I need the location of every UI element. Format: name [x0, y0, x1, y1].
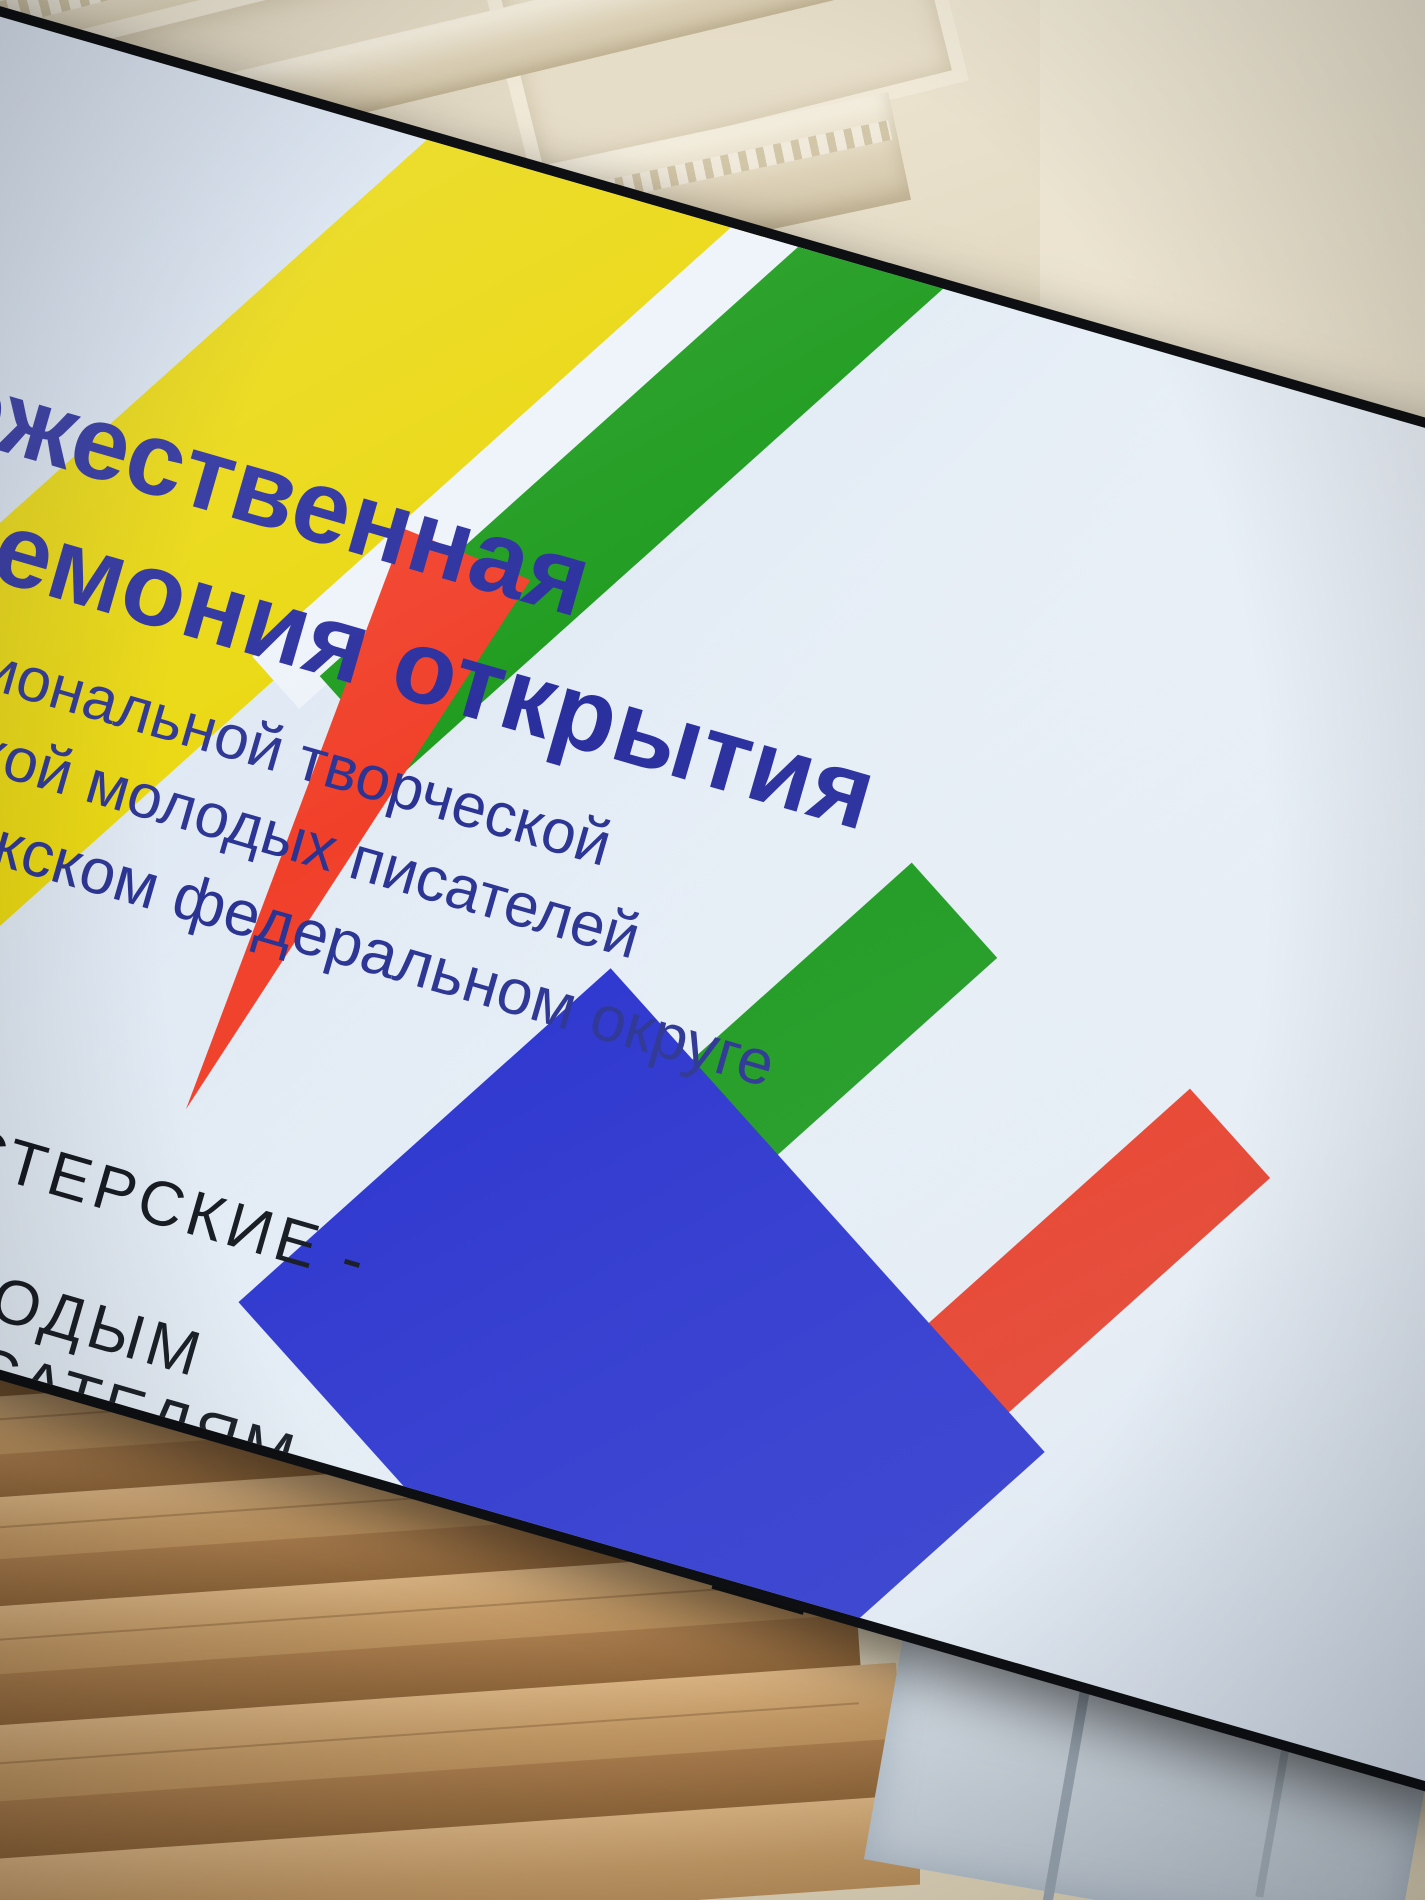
logo-text-line-1: АСТЕРСКИЕ -	[0, 1099, 378, 1298]
photo-scene: Торжественная церемония открытия Межреги…	[0, 0, 1425, 1900]
